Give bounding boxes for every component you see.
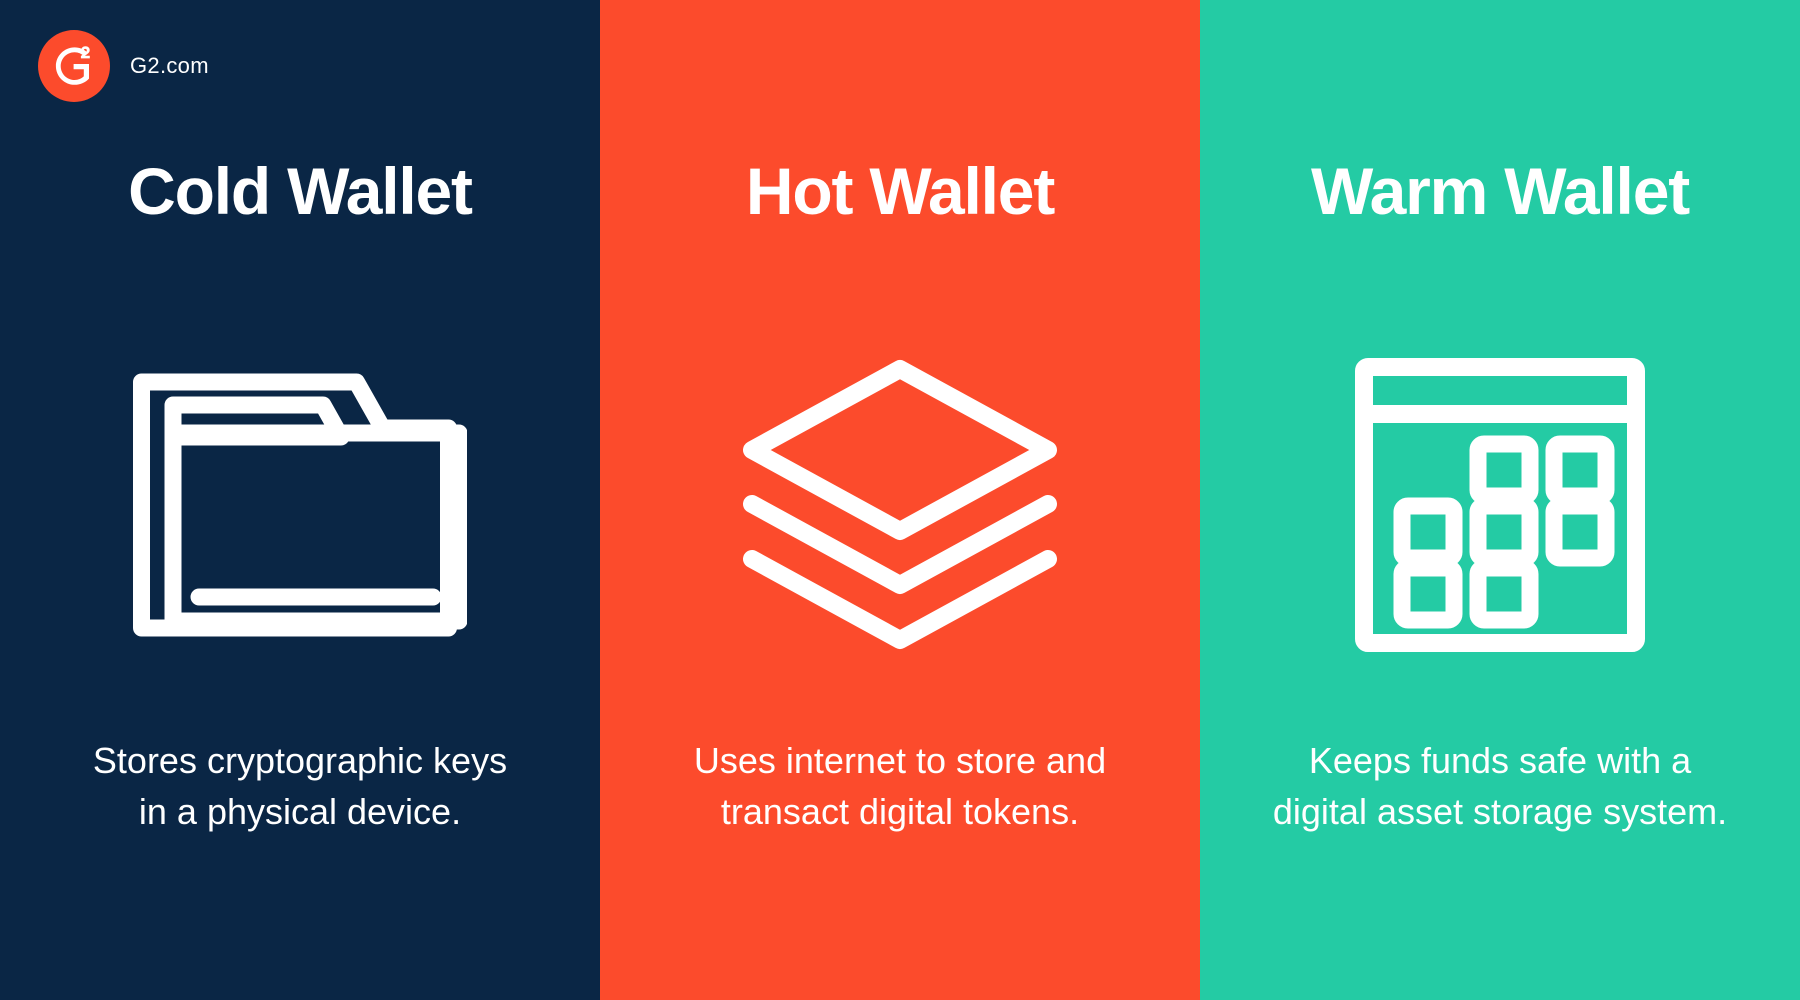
panel-description-cold-wallet: Stores cryptographic keys in a physical … bbox=[0, 735, 600, 837]
description-line: Uses internet to store and bbox=[626, 735, 1174, 786]
brand-name: G2.com bbox=[130, 53, 209, 79]
panel-description-hot-wallet: Uses internet to store and transact digi… bbox=[600, 735, 1200, 837]
layers-stack-icon bbox=[600, 355, 1200, 655]
panel-warm-wallet: Warm Wallet K bbox=[1200, 0, 1800, 1000]
panel-title-warm-wallet: Warm Wallet bbox=[1200, 158, 1800, 224]
panel-description-warm-wallet: Keeps funds safe with a digital asset st… bbox=[1200, 735, 1800, 837]
brand: G2.com bbox=[38, 30, 209, 102]
description-line: in a physical device. bbox=[26, 786, 574, 837]
g2-logo-icon bbox=[38, 30, 110, 102]
panel-title-hot-wallet: Hot Wallet bbox=[600, 158, 1200, 224]
panel-hot-wallet: Hot Wallet Uses internet to store and tr… bbox=[600, 0, 1200, 1000]
description-line: Keeps funds safe with a bbox=[1226, 735, 1774, 786]
folder-icon bbox=[0, 355, 600, 655]
panel-title-cold-wallet: Cold Wallet bbox=[0, 158, 600, 224]
wallet-comparison-infographic: G2.com Cold Wallet Stores cryptographic … bbox=[0, 0, 1800, 1000]
description-line: digital asset storage system. bbox=[1226, 786, 1774, 837]
description-line: Stores cryptographic keys bbox=[26, 735, 574, 786]
panel-cold-wallet: G2.com Cold Wallet Stores cryptographic … bbox=[0, 0, 600, 1000]
description-line: transact digital tokens. bbox=[626, 786, 1174, 837]
calculator-grid-icon bbox=[1200, 355, 1800, 655]
